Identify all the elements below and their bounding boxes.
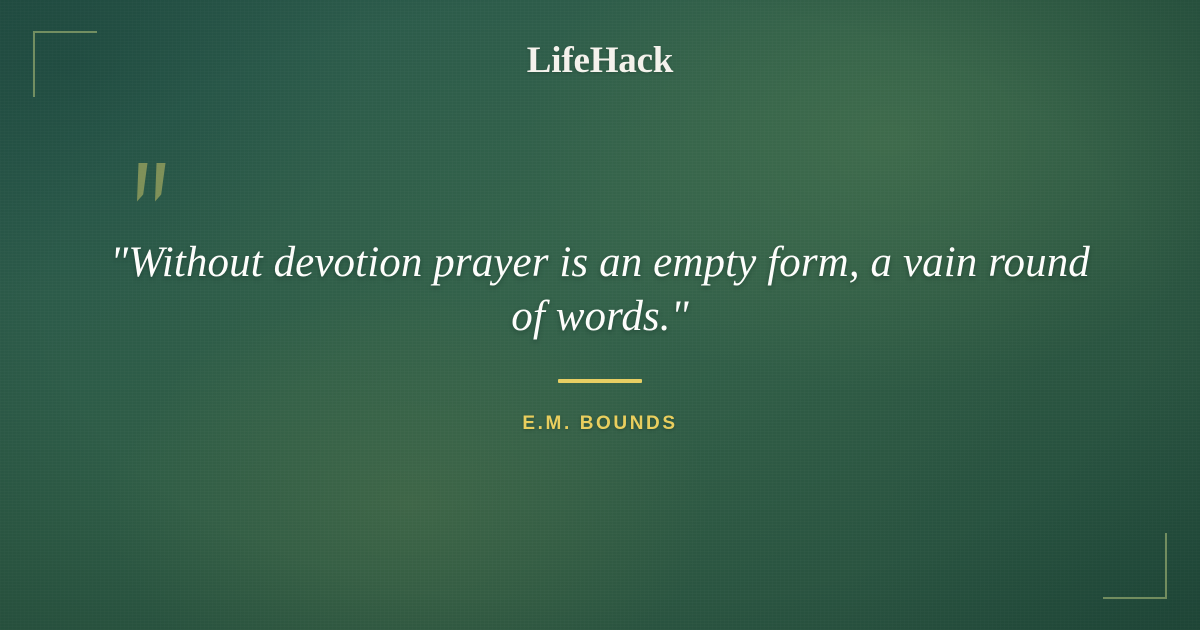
quote-card: LifeHack "Without devotion prayer is an … [0,0,1200,630]
quote-text: "Without devotion prayer is an empty for… [90,236,1110,344]
corner-bracket-bottom-right-icon [1103,533,1167,599]
brand-logo: LifeHack [0,39,1200,82]
quote-author: E.M. BOUNDS [0,413,1200,435]
divider-wrapper [0,379,1200,383]
gold-divider-rule [558,379,642,383]
quote-block: "Without devotion prayer is an empty for… [90,236,1110,344]
double-quote-mark-icon [128,160,182,216]
